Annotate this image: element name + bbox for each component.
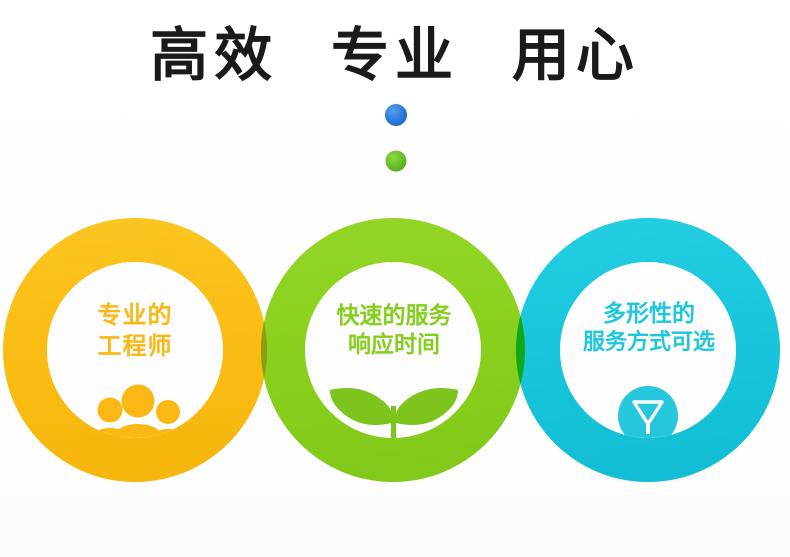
circle-label-engineers-line-2: 工程师: [35, 331, 235, 362]
circle-label-engineers-line-1: 专业的: [35, 300, 235, 331]
circle-label-service-modes-line-1: 多形性的: [533, 300, 765, 329]
circle-label-service-modes-line-2: 服务方式可选: [533, 329, 765, 357]
circle-label-response-line-1: 快速的服务: [288, 302, 500, 331]
circle-label-engineers: 专业的 工程师: [35, 300, 235, 361]
circle-label-service-modes: 多形性的 服务方式可选: [533, 300, 765, 358]
circle-label-response: 快速的服务 响应时间: [288, 302, 500, 361]
circle-label-response-line-2: 响应时间: [288, 331, 500, 360]
infographic-canvas: 高效 专业 用心: [0, 0, 790, 557]
venn-diagram: [0, 0, 790, 557]
